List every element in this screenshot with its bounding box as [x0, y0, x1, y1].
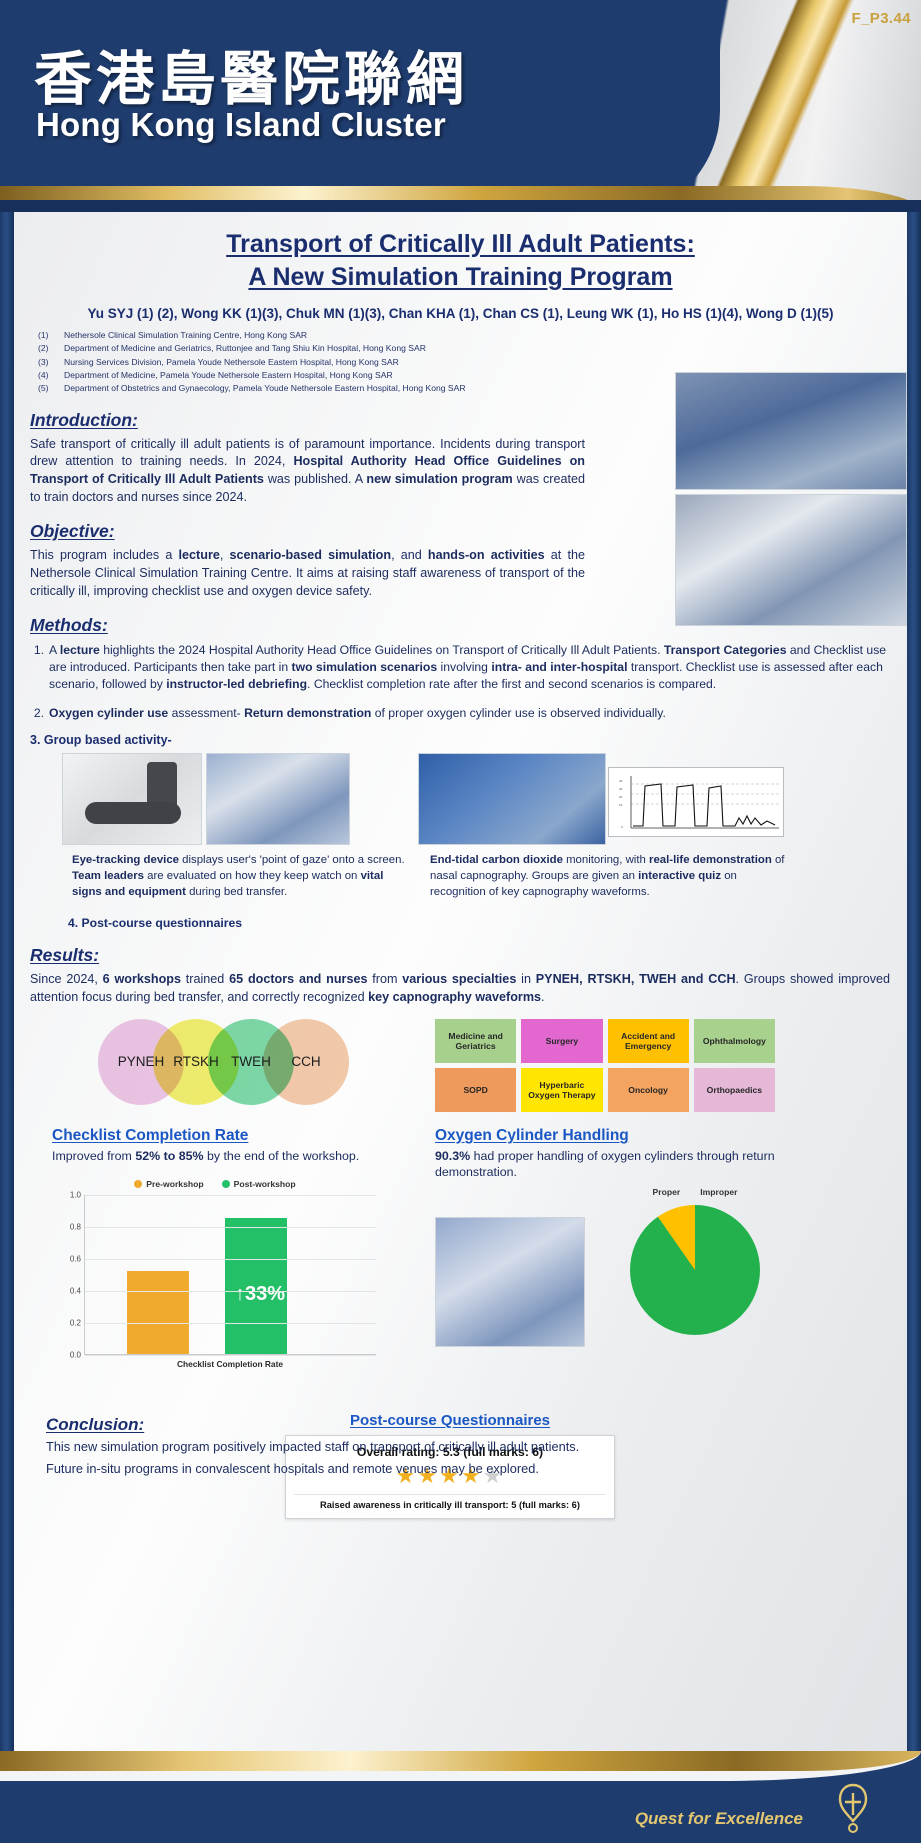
- oxygen-cylinder-photo: [435, 1217, 585, 1347]
- poster-body: Transport of Critically Ill Adult Patien…: [14, 212, 907, 1752]
- conclusion-section: Conclusion: This new simulation program …: [46, 1415, 826, 1478]
- legend-post-workshop: Post-workshop: [222, 1179, 296, 1189]
- introduction-body: Safe transport of critically ill adult p…: [30, 436, 585, 508]
- affiliation-row: (1)Nethersole Clinical Simulation Traini…: [38, 329, 891, 342]
- y-axis-tick: 0.0: [55, 1350, 81, 1359]
- svg-text:30: 30: [619, 787, 623, 791]
- poster-footer: Quest for Excellence: [0, 1751, 921, 1843]
- specialty-tile: Surgery: [521, 1019, 602, 1063]
- specialty-tile: Accident and Emergency: [608, 1019, 689, 1063]
- pie-chart-legend: Proper Improper: [605, 1187, 785, 1197]
- specialty-tile: Ophthalmology: [694, 1019, 775, 1063]
- bar-pre-workshop: [127, 1271, 189, 1354]
- legend-proper: Proper: [653, 1187, 681, 1197]
- eye-tracking-caption: Eye-tracking device displays user's 'poi…: [72, 853, 416, 901]
- gridline: [85, 1259, 376, 1260]
- affiliation-number: (1): [38, 329, 64, 342]
- results-heading: Results:: [30, 945, 891, 966]
- left-rail: [0, 0, 14, 1843]
- bed-transfer-photo: [206, 753, 350, 845]
- affiliation-text: Nursing Services Division, Pamela Youde …: [64, 356, 399, 369]
- results-body: Since 2024, 6 workshops trained 65 docto…: [30, 971, 890, 1007]
- gridline: [85, 1323, 376, 1324]
- awareness-rating-text: Raised awareness in critically ill trans…: [294, 1494, 606, 1510]
- footer-gold-bar: [0, 1751, 921, 1771]
- y-axis-tick: 0.6: [55, 1254, 81, 1263]
- y-axis-tick: 0.2: [55, 1318, 81, 1327]
- oxygen-pie-chart: Proper Improper: [605, 1187, 785, 1335]
- legend-label-improper: Improper: [700, 1187, 737, 1197]
- methods-item-4: 4. Post-course questionnaires: [68, 916, 242, 930]
- title-line-1: Transport of Critically Ill Adult Patien…: [226, 228, 695, 261]
- svg-text:20: 20: [619, 795, 623, 799]
- y-axis-tick: 0.8: [55, 1222, 81, 1231]
- methods-item: 2.Oxygen cylinder use assessment- Return…: [30, 705, 891, 722]
- affiliation-text: Department of Medicine and Geriatrics, R…: [64, 342, 426, 355]
- hospital-authority-logo-icon: [831, 1781, 875, 1837]
- specialty-tile: Medicine and Geriatrics: [435, 1019, 516, 1063]
- pie-graphic: [630, 1205, 760, 1335]
- methods-item-text: Oxygen cylinder use assessment- Return d…: [49, 705, 891, 722]
- hospital-venn-diagram: PYNEHRTSKHTWEHCCH Medicine and Geriatric…: [30, 1019, 891, 1105]
- y-axis-tick: 1.0: [55, 1190, 81, 1199]
- affiliation-row: (3)Nursing Services Division, Pamela You…: [38, 356, 891, 369]
- results-section: Results: Since 2024, 6 workshops trained…: [30, 945, 891, 1105]
- affiliation-text: Department of Obstetrics and Gynaecology…: [64, 382, 466, 395]
- poster-header: 香港島醫院聯網 Hong Kong Island Cluster: [0, 0, 921, 212]
- affiliation-number: (5): [38, 382, 64, 395]
- gridline: [85, 1291, 376, 1292]
- affiliation-row: (2)Department of Medicine and Geriatrics…: [38, 342, 891, 355]
- methods-list: 1.A lecture highlights the 2024 Hospital…: [30, 642, 891, 722]
- affiliation-number: (4): [38, 369, 64, 382]
- left-column: Introduction: Safe transport of critical…: [30, 410, 585, 601]
- bar-chart-xlabel: Checklist Completion Rate: [84, 1359, 376, 1369]
- methods-item: 1.A lecture highlights the 2024 Hospital…: [30, 642, 891, 694]
- methods-item-number: 1.: [30, 642, 49, 694]
- specialty-tile: Orthopaedics: [694, 1068, 775, 1112]
- conclusion-line-2: Future in-situ programs in convalescent …: [46, 1460, 826, 1479]
- oxygen-block: Oxygen Cylinder Handling 90.3% had prope…: [435, 1127, 835, 1181]
- specialty-grid: Medicine and GeriatricsSurgeryAccident a…: [435, 1019, 775, 1112]
- capnography-caption: End-tidal carbon dioxide monitoring, wit…: [430, 853, 786, 901]
- author-list: Yu SYJ (1) (2), Wong KK (1)(3), Chuk MN …: [30, 306, 891, 321]
- cluster-name-chinese: 香港島醫院聯網: [34, 32, 468, 116]
- bar-chart-legend: Pre-workshop Post-workshop: [54, 1179, 376, 1189]
- results-lower: Checklist Completion Rate Improved from …: [30, 1127, 891, 1457]
- affiliation-text: Nethersole Clinical Simulation Training …: [64, 329, 307, 342]
- affiliation-number: (3): [38, 356, 64, 369]
- poster-canvas: 香港島醫院聯網 Hong Kong Island Cluster F_P3.44…: [0, 0, 921, 1843]
- title-line-2: A New Simulation Training Program: [248, 261, 672, 294]
- header-navy-foot: [0, 200, 921, 212]
- legend-dot-pre: [134, 1180, 142, 1188]
- y-axis-tick: 0.4: [55, 1286, 81, 1295]
- legend-improper: Improper: [700, 1187, 737, 1197]
- specialty-tile: Oncology: [608, 1068, 689, 1112]
- checklist-bar-chart: Pre-workshop Post-workshop ↑33% 0.00.20.…: [54, 1179, 376, 1387]
- checklist-heading: Checklist Completion Rate: [52, 1127, 402, 1145]
- footer-tagline: Quest for Excellence: [635, 1809, 803, 1829]
- oxygen-subtext: 90.3% had proper handling of oxygen cyli…: [435, 1148, 835, 1181]
- methods-item-text: A lecture highlights the 2024 Hospital A…: [49, 642, 891, 694]
- bar-chart-plot: ↑33% 0.00.20.40.60.81.0: [84, 1195, 376, 1355]
- oxygen-heading: Oxygen Cylinder Handling: [435, 1127, 835, 1145]
- affiliation-number: (2): [38, 342, 64, 355]
- legend-dot-post: [222, 1180, 230, 1188]
- gridline: [85, 1195, 376, 1196]
- group-activity-label: 3. Group based activity-: [30, 733, 891, 747]
- team-photo: [675, 372, 907, 490]
- svg-text:40: 40: [619, 779, 623, 783]
- checklist-block: Checklist Completion Rate Improved from …: [52, 1127, 402, 1165]
- checklist-subtext: Improved from 52% to 85% by the end of t…: [52, 1148, 402, 1165]
- legend-pre-workshop: Pre-workshop: [134, 1179, 203, 1189]
- poster-code: F_P3.44: [851, 10, 911, 27]
- waveform-svg: 4030 2010 0: [609, 768, 783, 836]
- conclusion-line-1: This new simulation program positively i…: [46, 1438, 826, 1457]
- legend-label-proper: Proper: [653, 1187, 681, 1197]
- gridline: [85, 1355, 376, 1356]
- methods-item-number: 2.: [30, 705, 49, 722]
- specialty-tile: Hyperbaric Oxygen Therapy: [521, 1068, 602, 1112]
- right-rail: [907, 0, 921, 1843]
- specialty-tile: SOPD: [435, 1068, 516, 1112]
- capnography-waveform-chart: 4030 2010 0: [608, 767, 784, 837]
- lecture-photo: [675, 494, 907, 626]
- venn-circle-label: CCH: [263, 1019, 349, 1105]
- affiliation-text: Department of Medicine, Pamela Youde Net…: [64, 369, 393, 382]
- objective-body: This program includes a lecture, scenari…: [30, 547, 585, 601]
- introduction-heading: Introduction:: [30, 410, 585, 431]
- capnography-demo-photo: [418, 753, 606, 845]
- legend-label-post: Post-workshop: [234, 1179, 296, 1189]
- poster-title: Transport of Critically Ill Adult Patien…: [30, 212, 891, 294]
- eye-tracking-device-photo: [62, 753, 202, 845]
- legend-label-pre: Pre-workshop: [146, 1179, 203, 1189]
- delta-annotation: ↑33%: [235, 1283, 285, 1306]
- conclusion-heading: Conclusion:: [46, 1415, 826, 1435]
- svg-text:10: 10: [619, 803, 623, 807]
- objective-heading: Objective:: [30, 521, 585, 542]
- cluster-name-english: Hong Kong Island Cluster: [36, 106, 446, 144]
- gridline: [85, 1227, 376, 1228]
- group-activity-block: 4030 2010 0 Eye-tracking device displays…: [30, 753, 891, 931]
